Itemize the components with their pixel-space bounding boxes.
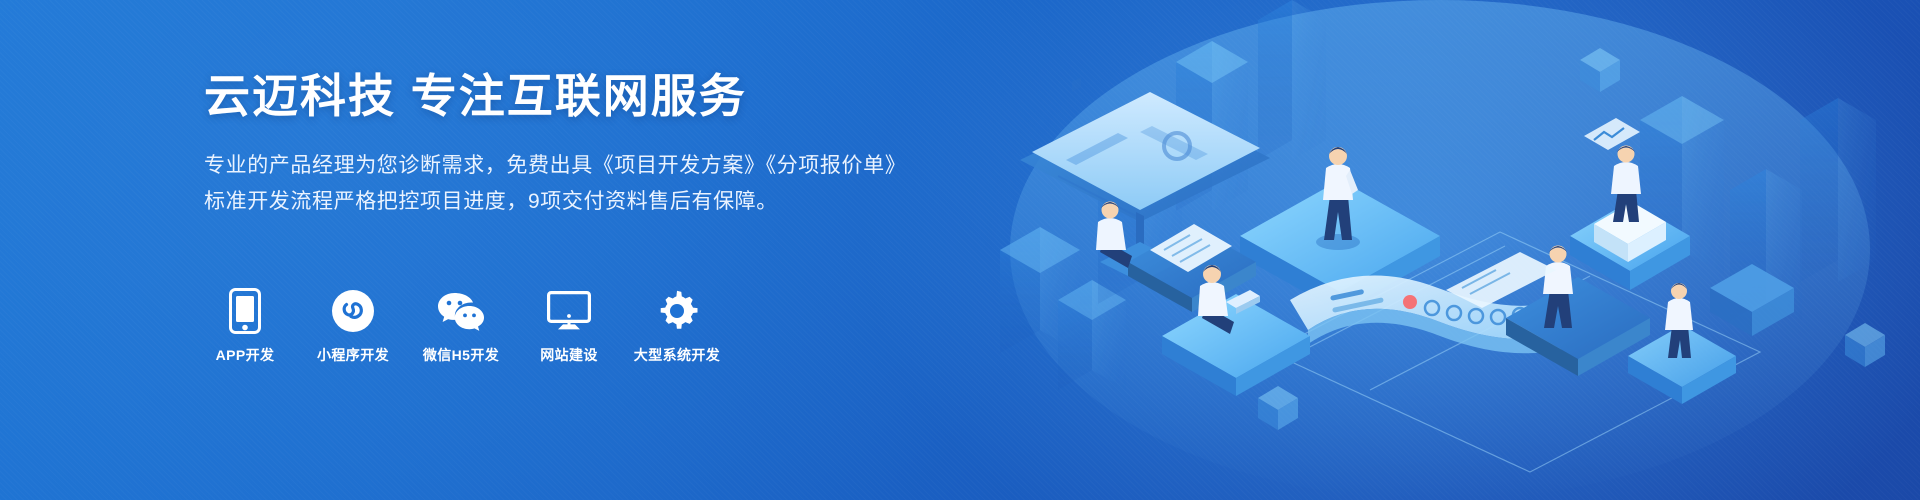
service-item-large-system[interactable]: 大型系统开发 [638,288,716,365]
hero-subtitle-line-1: 专业的产品经理为您诊断需求，免费出具《项目开发方案》《分项报价单》 [204,154,906,177]
service-item-app[interactable]: APP开发 [206,288,284,365]
service-label: 大型系统开发 [634,345,720,365]
service-item-wechat-h5[interactable]: 微信H5开发 [422,288,500,365]
monitor-icon [547,288,591,334]
service-label: 微信H5开发 [423,345,499,365]
service-item-miniprogram[interactable]: 小程序开发 [314,288,392,365]
service-label: 网站建设 [540,345,598,365]
illustration [940,0,1920,500]
gear-icon [656,288,698,334]
service-item-website[interactable]: 网站建设 [530,288,608,365]
wechat-icon [437,288,485,334]
hero-text-block: 云迈科技 专注互联网服务 专业的产品经理为您诊断需求，免费出具《项目开发方案》《… [204,68,904,220]
page-title: 云迈科技 专注互联网服务 [204,68,904,126]
hero-banner: 云迈科技 专注互联网服务 专业的产品经理为您诊断需求，免费出具《项目开发方案》《… [0,0,1920,500]
service-label: 小程序开发 [317,345,389,365]
service-list: APP开发 小程序开发 微信 [206,288,716,365]
service-label: APP开发 [216,345,275,365]
hero-subtitle: 专业的产品经理为您诊断需求，免费出具《项目开发方案》《分项报价单》 标准开发流程… [204,148,904,220]
mini-program-icon [332,288,374,334]
mobile-phone-icon [229,288,261,334]
hero-subtitle-line-2: 标准开发流程严格把控项目进度，9项交付资料售后有保障。 [204,184,904,220]
